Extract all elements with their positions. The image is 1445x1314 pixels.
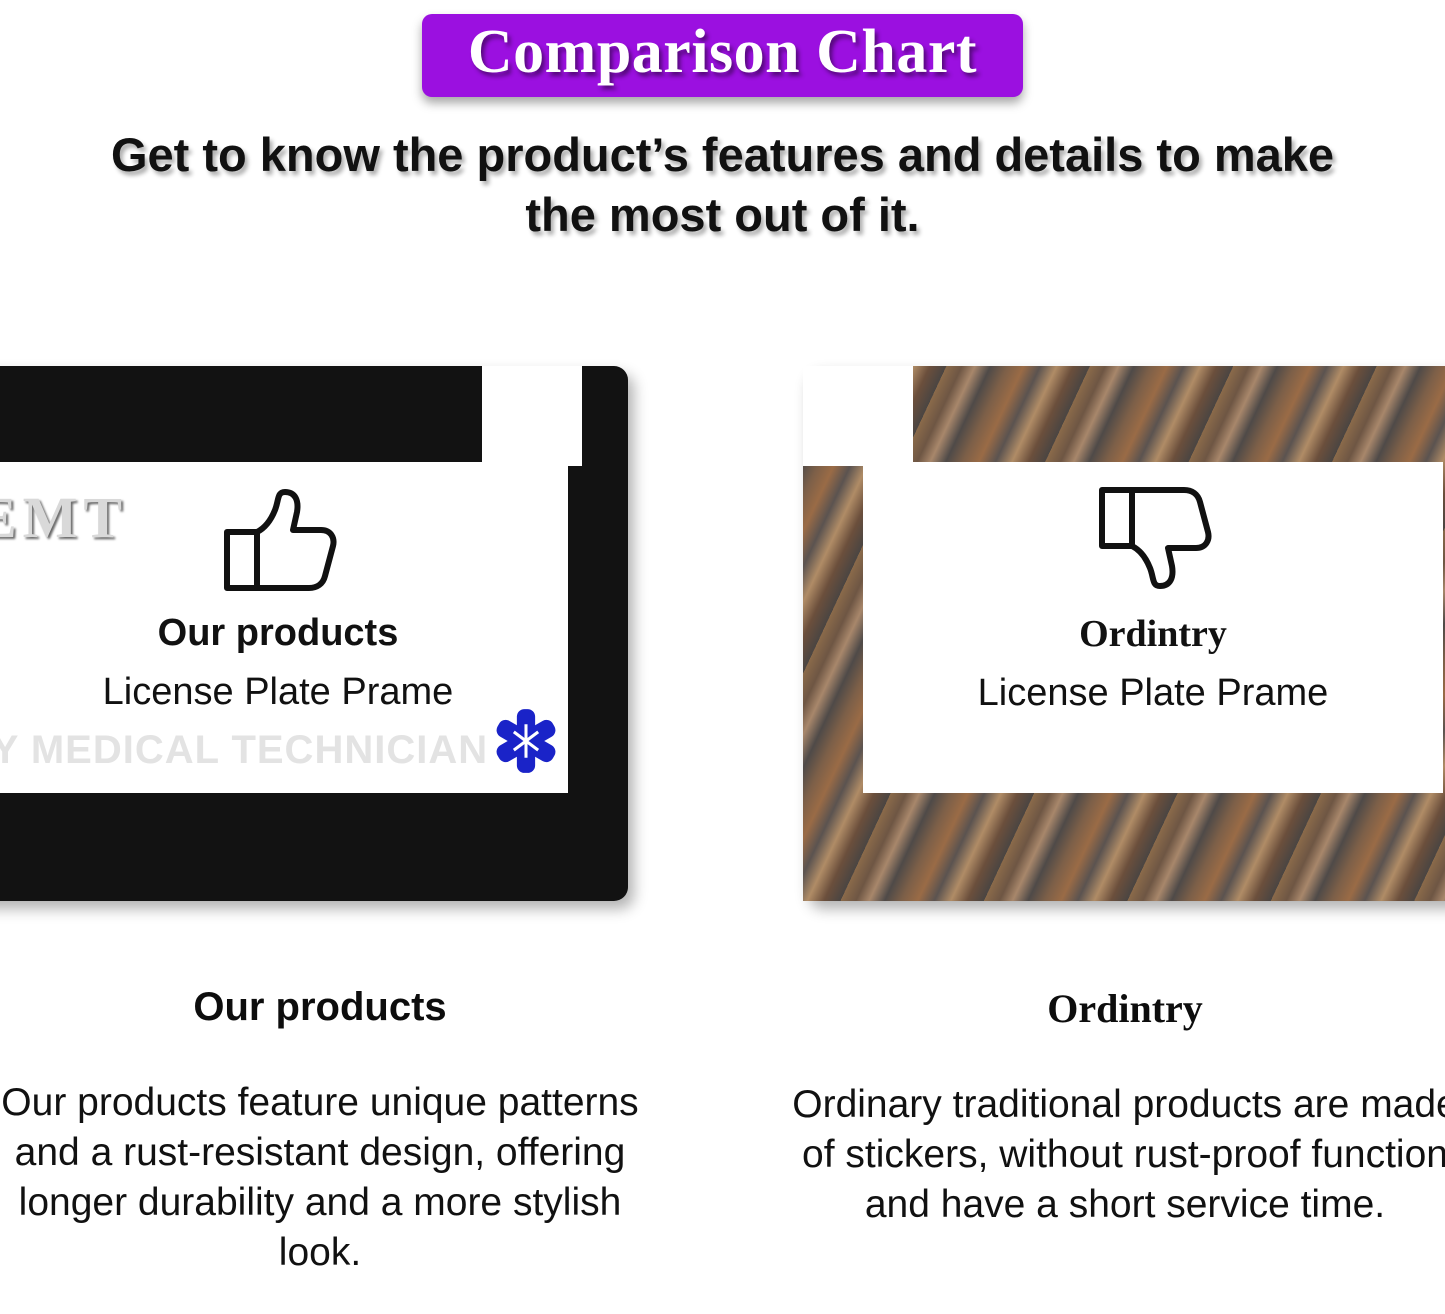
product-type-ours: License Plate Prame: [103, 671, 454, 714]
plate-inner-theirs: Ordintry License Plate Prame: [863, 462, 1443, 793]
details-body-theirs: Ordinary traditional products are made o…: [785, 1080, 1445, 1230]
frame-notch: [482, 366, 582, 466]
details-title-ours: Our products: [0, 985, 660, 1030]
comparison-chart-banner: Comparison Chart: [422, 14, 1023, 97]
details-theirs: Ordintry Ordinary traditional products a…: [785, 985, 1445, 1230]
license-plate-frame-ours: EMT NCY MEDICAL TECHNICIAN: [0, 366, 628, 901]
details-title-theirs: Ordintry: [785, 985, 1445, 1032]
details-ours: Our products Our products feature unique…: [0, 985, 660, 1278]
page-title: Comparison Chart: [468, 20, 977, 85]
comparison-column-theirs: Ordintry License Plate Prame: [795, 352, 1445, 912]
license-plate-frame-theirs: Ordintry License Plate Prame: [803, 366, 1445, 901]
banner-container: Comparison Chart: [0, 0, 1445, 97]
plate-inner-ours: Our products License Plate Prame: [0, 462, 568, 793]
frame-notch: [803, 366, 913, 466]
comparison-row: EMT NCY MEDICAL TECHNICIAN: [0, 352, 1445, 922]
verdict-label-ours: Our products: [158, 612, 399, 655]
subheading: Get to know the product’s features and d…: [0, 125, 1445, 245]
product-type-theirs: License Plate Prame: [978, 672, 1329, 715]
comparison-column-ours: EMT NCY MEDICAL TECHNICIAN: [0, 352, 712, 912]
details-body-ours: Our products feature unique patterns and…: [0, 1078, 660, 1278]
verdict-label-theirs: Ordintry: [1079, 612, 1227, 656]
thumbs-up-icon: [213, 484, 343, 594]
thumbs-down-icon: [1088, 484, 1218, 594]
